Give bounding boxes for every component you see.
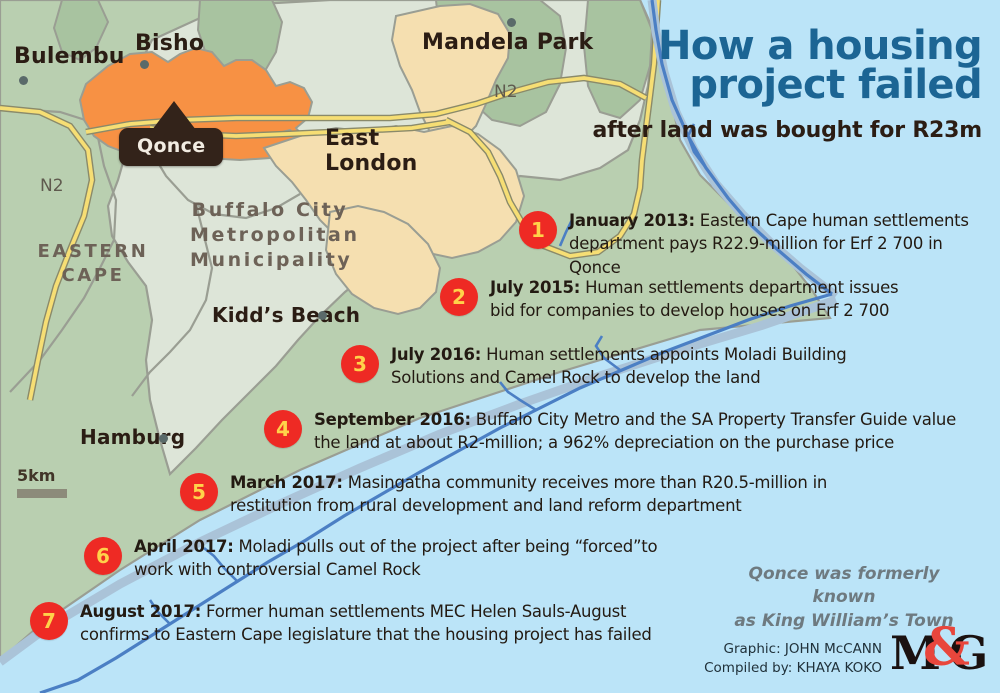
timeline-date-6: April 2017: — [134, 537, 234, 556]
infographic-canvas: Bulembu Bisho Mandela Park East London K… — [0, 0, 1000, 693]
timeline-badge-1: 1 — [519, 211, 557, 249]
headline-block: How a housing project failed after land … — [532, 27, 982, 143]
graphic-credit: Graphic: JOHN McCANN — [704, 640, 882, 659]
timeline-date-5: March 2017: — [230, 473, 343, 492]
timeline-badge-7: 7 — [30, 602, 68, 640]
map-scale: 5km — [17, 466, 67, 498]
region-label-eastern-cape: EASTERN CAPE — [18, 240, 168, 288]
map-dot-mandela-park — [507, 18, 516, 27]
timeline-badge-6: 6 — [84, 537, 122, 575]
qonce-callout: Qonce — [119, 128, 223, 166]
timeline-text-1: January 2013: Eastern Cape human settlem… — [569, 209, 991, 279]
timeline-text-2: July 2015: Human settlements department … — [490, 276, 918, 323]
map-label-kidds-beach: Kidd’s Beach — [212, 303, 360, 327]
map-label-east-london: East London — [325, 126, 418, 176]
mg-logo: M G & — [892, 625, 988, 673]
timeline-item-1: 1 January 2013: Eastern Cape human settl… — [519, 209, 991, 279]
timeline-date-7: August 2017: — [80, 602, 201, 621]
timeline-text-3: July 2016: Human settlements appoints Mo… — [391, 343, 911, 390]
map-dot-bulembu — [19, 76, 28, 85]
map-label-bisho: Bisho — [135, 31, 204, 56]
map-dot-bisho — [140, 60, 149, 69]
timeline-item-7: 7 August 2017: Former human settlements … — [30, 600, 670, 647]
qonce-label: Qonce — [119, 128, 223, 166]
timeline-item-4: 4 September 2016: Buffalo City Metro and… — [264, 408, 964, 455]
timeline-item-2: 2 July 2015: Human settlements departmen… — [440, 276, 918, 323]
timeline-item-5: 5 March 2017: Masingatha community recei… — [180, 471, 900, 518]
credits-block: Graphic: JOHN McCANN Compiled by: KHAYA … — [704, 640, 882, 677]
timeline-badge-5: 5 — [180, 473, 218, 511]
timeline-item-6: 6 April 2017: Moladi pulls out of the pr… — [84, 535, 694, 582]
scale-label: 5km — [17, 466, 67, 485]
timeline-text-7: August 2017: Former human settlements ME… — [80, 600, 670, 647]
logo-ampersand: & — [923, 625, 970, 673]
n2-label-west: N2 — [40, 176, 64, 196]
timeline-text-5: March 2017: Masingatha community receive… — [230, 471, 900, 518]
callout-pointer — [152, 101, 196, 130]
region-label-buffalo-city: Buffalo City Metropolitan Municipality — [190, 198, 350, 273]
map-dot-hamburg — [159, 434, 168, 443]
timeline-badge-2: 2 — [440, 278, 478, 316]
timeline-text-6: April 2017: Moladi pulls out of the proj… — [134, 535, 694, 582]
map-label-bulembu: Bulembu — [14, 44, 125, 69]
map-dot-kidds-beach — [318, 311, 327, 320]
timeline-date-4: September 2016: — [314, 410, 471, 429]
timeline-date-3: July 2016: — [391, 345, 481, 364]
timeline-text-4: September 2016: Buffalo City Metro and t… — [314, 408, 964, 455]
scale-bar — [17, 489, 67, 498]
timeline-badge-4: 4 — [264, 410, 302, 448]
footnote: Qonce was formerly known as King William… — [724, 563, 964, 633]
n2-label-east: N2 — [494, 82, 518, 102]
timeline-item-3: 3 July 2016: Human settlements appoints … — [341, 343, 911, 390]
timeline-date-2: July 2015: — [490, 278, 580, 297]
compiled-credit: Compiled by: KHAYA KOKO — [704, 659, 882, 678]
page-subtitle: after land was bought for R23m — [532, 118, 982, 143]
timeline-date-1: January 2013: — [569, 211, 695, 230]
map-label-hamburg: Hamburg — [80, 425, 185, 449]
page-title: How a housing project failed — [532, 27, 982, 105]
timeline-badge-3: 3 — [341, 345, 379, 383]
